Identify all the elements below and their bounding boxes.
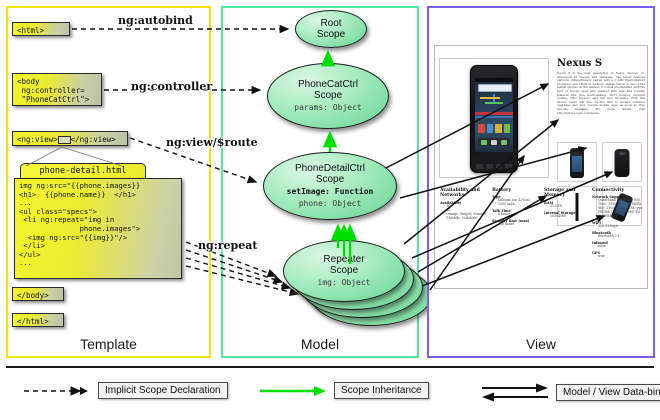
spec-value-internal-storage: 16384MB [544, 215, 592, 219]
ngview-close-tag: </ng:view> [71, 135, 116, 144]
phonedetailctrl-scope-member-phone: phone: Object [299, 199, 362, 209]
spec-value-gps: true [592, 255, 644, 259]
code-box-body-open: <body ng:controller= "PhoneCatCtrl"> [12, 73, 102, 106]
spec-column-battery: Battery Type Lithium Ion (Li-Ion) 1500 m… [492, 188, 540, 227]
spec-value-availability-2: Orange, Singtel, Sunrise, T-Mobile, Voda… [440, 213, 488, 221]
spec-value-bluetooth: Bluetooth 2.1 [592, 235, 644, 239]
thumbnail-back[interactable] [602, 142, 642, 182]
phonedetailctrl-scope-title-line2: Scope [316, 174, 344, 185]
product-title: Nexus S [557, 58, 645, 69]
legend-double-arrow-icon [480, 382, 550, 402]
root-scope-title-line1: Root [320, 18, 341, 29]
code-box-body-close: </body> [12, 287, 64, 301]
phone-statusbar [475, 78, 513, 82]
legend-green-arrow-icon [258, 384, 328, 398]
phone-detail-note-code: img ng:src="{{phone.images}} <h1> {{phon… [14, 178, 182, 279]
spec-value-talk-time: 6 hours [492, 213, 540, 217]
legend: Implicit Scope Declaration Scope Inherit… [0, 366, 660, 420]
code-box-html-open: <html> [12, 22, 70, 36]
legend-label-scope-inheritance: Scope Inheritance [334, 382, 429, 399]
legend-label-implicit-scope-declaration: Implicit Scope Declaration [98, 382, 228, 399]
spec-value-infrared: false [592, 245, 644, 249]
phone-widget-yellow [480, 97, 500, 99]
spec-value-wifi: 802.11 b/g/n [592, 225, 644, 229]
thumbnail-row-1 [557, 142, 642, 182]
phonedetailctrl-scope-member-setimage: setImage: Function [287, 187, 374, 197]
spec-heading-connectivity: Connectivity [592, 188, 644, 193]
ngview-open-tag: <ng:view> [17, 135, 58, 144]
spec-value-battery-type-1: 1500 mAh [492, 203, 540, 207]
spec-table: Availability and Networks Availability 3… [440, 188, 644, 284]
phone-widget-green [485, 102, 503, 104]
panel-model-label: Model [223, 336, 417, 352]
legend-dashed-arrow-icon [22, 384, 92, 398]
spec-heading-battery: Battery [492, 188, 540, 193]
spec-column-connectivity: Connectivity Network Support Quad-band G… [592, 188, 644, 259]
phone-screen [475, 78, 513, 152]
legend-item-implicit-scope-declaration: Implicit Scope Declaration [22, 382, 228, 399]
phone-band-red [475, 112, 513, 115]
phonedetailctrl-scope-title-line1: PhoneDetailCtrl [295, 163, 365, 174]
spec-value-ram: 512MB [544, 205, 592, 209]
arrow-label-ngview-route: ng:view/$route [166, 136, 258, 149]
spec-heading-storage: Storage and Memory [544, 188, 592, 199]
phone-detail-note: phone-detail.html img ng:src="{{phone.im… [14, 163, 182, 279]
code-box-html-close: </html> [12, 313, 64, 327]
spec-heading-availability: Availability and Networks [440, 188, 488, 199]
legend-divider [6, 366, 654, 368]
spec-column-availability: Availability and Networks Availability 3… [440, 188, 488, 220]
phone-app-icons [478, 124, 510, 133]
phone-dock [478, 138, 510, 146]
phone-search-widget [478, 84, 512, 92]
diagram-root: Template <html> <body ng:controller= "Ph… [0, 0, 660, 420]
thumbnail-front[interactable] [557, 142, 597, 182]
root-scope-title-line2: Scope [317, 29, 345, 40]
spec-column-storage: Storage and Memory RAM 512MB Internal St… [544, 188, 592, 219]
phone-hero-image [470, 65, 518, 173]
phonecatctrl-scope-member-params: params: Object [294, 103, 361, 113]
legend-label-model-view-data-binding: Model / View Data-binding [556, 384, 660, 401]
phonedetailctrl-scope: PhoneDetailCtrl Scope setImage: Function… [263, 152, 397, 220]
code-box-ngview: <ng:view></ng:view> [12, 131, 128, 146]
spec-value-network-support: Quad-band GSM 850, 900, 1800, 1900 Tri-b… [592, 199, 644, 219]
phone-band-blue [475, 116, 513, 118]
root-scope: Root Scope [295, 10, 367, 48]
rendered-view-page: Nexus S Nexus S is the next generation o… [434, 45, 648, 289]
phonecatctrl-scope-title-line1: PhoneCatCtrl [298, 79, 358, 90]
repeater-scope-title-line1: Repeater [323, 254, 364, 265]
repeater-scope-member-img: img: Object [318, 278, 371, 288]
arrow-label-ngrepeat: ng:repeat [198, 239, 257, 252]
phonecatctrl-scope-title-line2: Scope [314, 90, 342, 101]
phonecatctrl-scope: PhoneCatCtrl Scope params: Object [267, 63, 389, 129]
legend-item-scope-inheritance: Scope Inheritance [258, 382, 429, 399]
repeater-scope-title-line2: Scope [330, 265, 358, 276]
spec-value-standby-time: 428 hours [492, 223, 540, 227]
repeater-scope: Repeater Scope img: Object [283, 240, 405, 302]
hero-image-frame [439, 58, 549, 178]
phone-soft-keys [476, 164, 512, 169]
legend-item-model-view-data-binding: Model / View Data-binding [480, 382, 660, 402]
panel-template-label: Template [8, 336, 209, 352]
arrow-label-autobind: ng:autobind [118, 14, 193, 27]
panel-view-label: View [429, 336, 653, 352]
ngview-placeholder-icon [58, 136, 71, 144]
product-description: Nexus S is the next generation of Nexus … [557, 72, 645, 134]
arrow-label-controller: ng:controller [131, 80, 212, 93]
